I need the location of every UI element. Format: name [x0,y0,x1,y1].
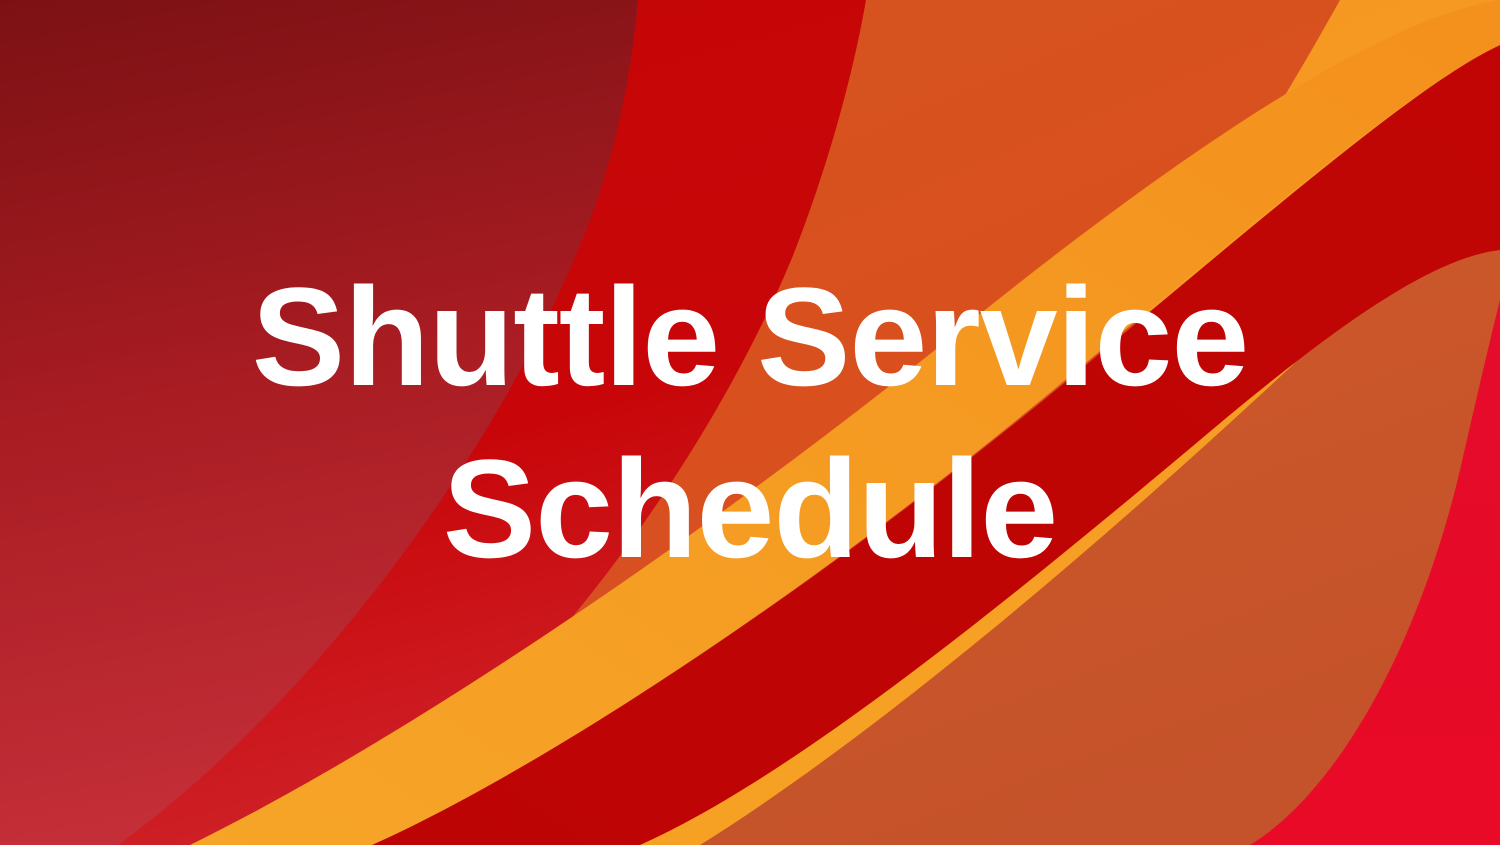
decorative-background [0,0,1500,845]
title-slide: Shuttle Service Schedule [0,0,1500,845]
